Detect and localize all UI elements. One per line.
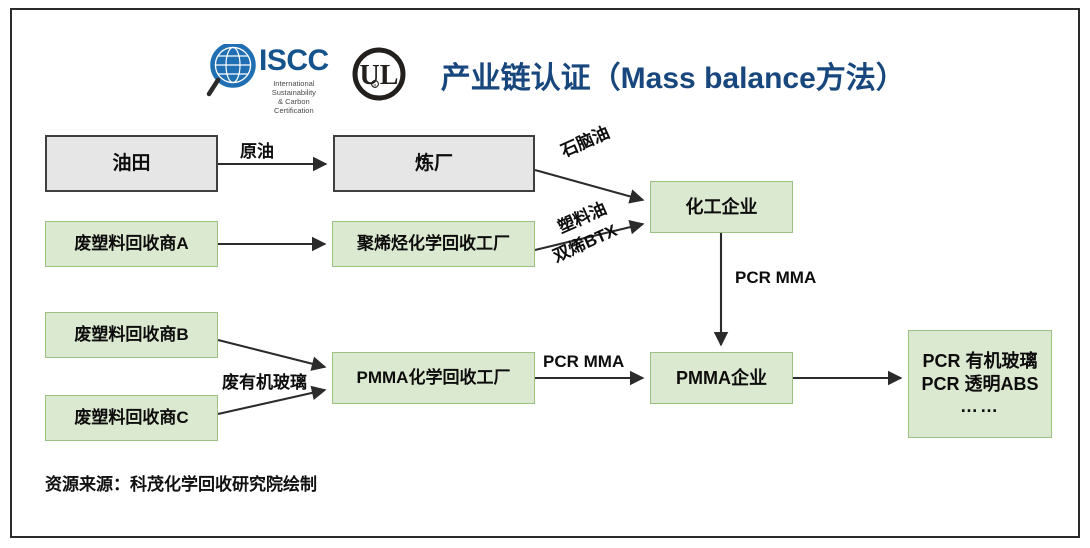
ul-certification-icon: UL R (351, 46, 407, 107)
node-refinery[interactable]: 炼厂 (333, 135, 535, 192)
edge-label-pcr-mma-right: PCR MMA (543, 352, 624, 372)
diagram-header: ISCC International Sustainability & Carb… (205, 40, 905, 110)
edge-label-text: PCR MMA (543, 352, 624, 371)
iscc-subtitle-line2: & Carbon Certification (259, 97, 329, 115)
node-polyolefin-plant[interactable]: 聚烯烃化学回收工厂 (332, 221, 535, 267)
edge-label-pcr-mma-down: PCR MMA (735, 268, 816, 288)
node-recycler-b[interactable]: 废塑料回收商B (45, 312, 218, 358)
edge-label-text: 原油 (240, 142, 274, 161)
iscc-subtitle-line1: International Sustainability (259, 79, 329, 97)
iscc-wordmark: ISCC (259, 46, 329, 76)
node-label: 废塑料回收商C (74, 407, 188, 428)
node-recycler-a[interactable]: 废塑料回收商A (45, 221, 218, 267)
source-note: 资源来源：科茂化学回收研究院绘制 (45, 470, 317, 495)
node-label: 废塑料回收商A (74, 233, 188, 254)
node-label: 炼厂 (415, 152, 453, 176)
svg-text:UL: UL (359, 60, 398, 91)
iscc-text-block: ISCC International Sustainability & Carb… (259, 44, 329, 115)
final-product-line-3: …… (960, 395, 1000, 418)
node-label: 化工企业 (686, 196, 758, 219)
node-label: 废塑料回收商B (74, 324, 188, 345)
globe-magnifier-icon (205, 44, 257, 100)
node-recycler-c[interactable]: 废塑料回收商C (45, 395, 218, 441)
node-final-products[interactable]: PCR 有机玻璃 PCR 透明ABS …… (908, 330, 1052, 438)
iscc-logo: ISCC International Sustainability & Carb… (205, 44, 329, 106)
node-label: 聚烯烃化学回收工厂 (357, 233, 510, 254)
edge-label-waste-pmma: 废有机玻璃 (222, 368, 307, 393)
node-pmma-company[interactable]: PMMA企业 (650, 352, 793, 404)
node-chemical-company[interactable]: 化工企业 (650, 181, 793, 233)
edge-label-text: 废有机玻璃 (222, 373, 307, 392)
page-title: 产业链认证（Mass balance方法） (441, 53, 906, 97)
node-label: PMMA化学回收工厂 (357, 367, 511, 388)
node-pmma-plant[interactable]: PMMA化学回收工厂 (332, 352, 535, 404)
node-label: PMMA企业 (676, 367, 767, 390)
svg-text:R: R (373, 82, 376, 87)
node-oilfield[interactable]: 油田 (45, 135, 218, 192)
node-label: 油田 (112, 152, 150, 176)
slide-canvas: ISCC International Sustainability & Carb… (0, 0, 1090, 548)
final-product-line-2: PCR 透明ABS (921, 373, 1038, 396)
final-product-line-1: PCR 有机玻璃 (922, 350, 1037, 373)
edge-label-text: PCR MMA (735, 268, 816, 287)
edge-label-crude-oil: 原油 (240, 137, 274, 162)
